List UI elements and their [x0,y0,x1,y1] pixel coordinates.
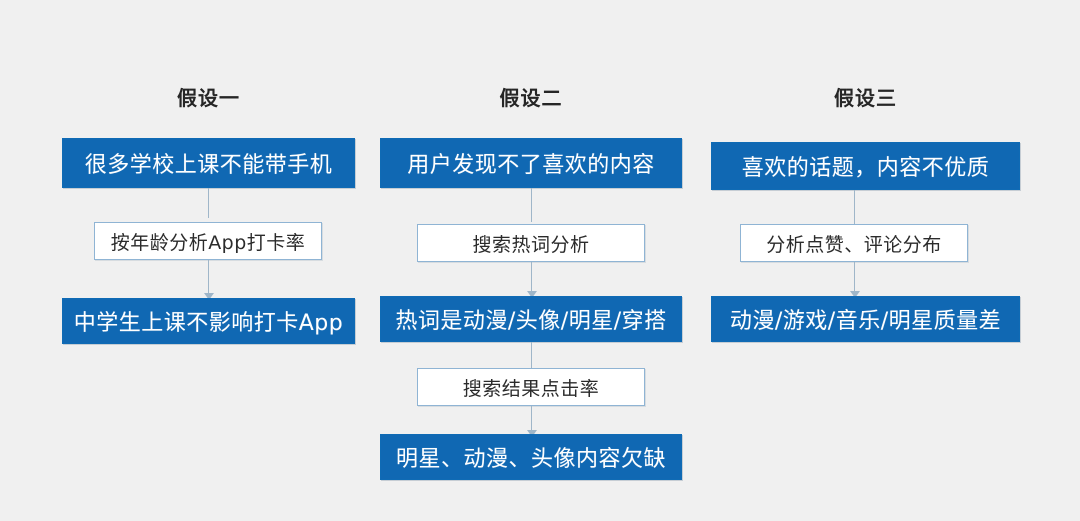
column-title-hypothesis-2: 假设二 [380,82,682,111]
connector-c3-1 [854,190,855,224]
column-title-hypothesis-1: 假设一 [62,82,355,111]
connector-c1-1 [208,188,209,218]
node-c2-blue-2[interactable]: 热词是动漫/头像/明星/穿搭 [380,296,682,342]
node-c2-white-2[interactable]: 搜索结果点击率 [417,368,645,406]
connector-c1-2 [208,260,209,295]
connector-c2-1 [531,188,532,222]
flowchart-canvas: 假设一 很多学校上课不能带手机 按年龄分析App打卡率 中学生上课不影响打卡Ap… [0,0,1080,521]
node-c1-blue-2[interactable]: 中学生上课不影响打卡App [62,298,355,344]
node-c3-blue-2[interactable]: 动漫/游戏/音乐/明星质量差 [711,296,1020,342]
node-c3-blue-1[interactable]: 喜欢的话题，内容不优质 [711,142,1020,190]
node-c1-white-1[interactable]: 按年龄分析App打卡率 [94,222,322,260]
node-c2-blue-1[interactable]: 用户发现不了喜欢的内容 [380,138,682,188]
node-c1-blue-1[interactable]: 很多学校上课不能带手机 [62,138,355,188]
column-title-hypothesis-3: 假设三 [711,82,1020,111]
node-c2-white-1[interactable]: 搜索热词分析 [417,224,645,262]
node-c3-white-1[interactable]: 分析点赞、评论分布 [740,224,968,262]
connector-c2-3 [531,342,532,370]
node-c2-blue-3[interactable]: 明星、动漫、头像内容欠缺 [380,434,682,480]
